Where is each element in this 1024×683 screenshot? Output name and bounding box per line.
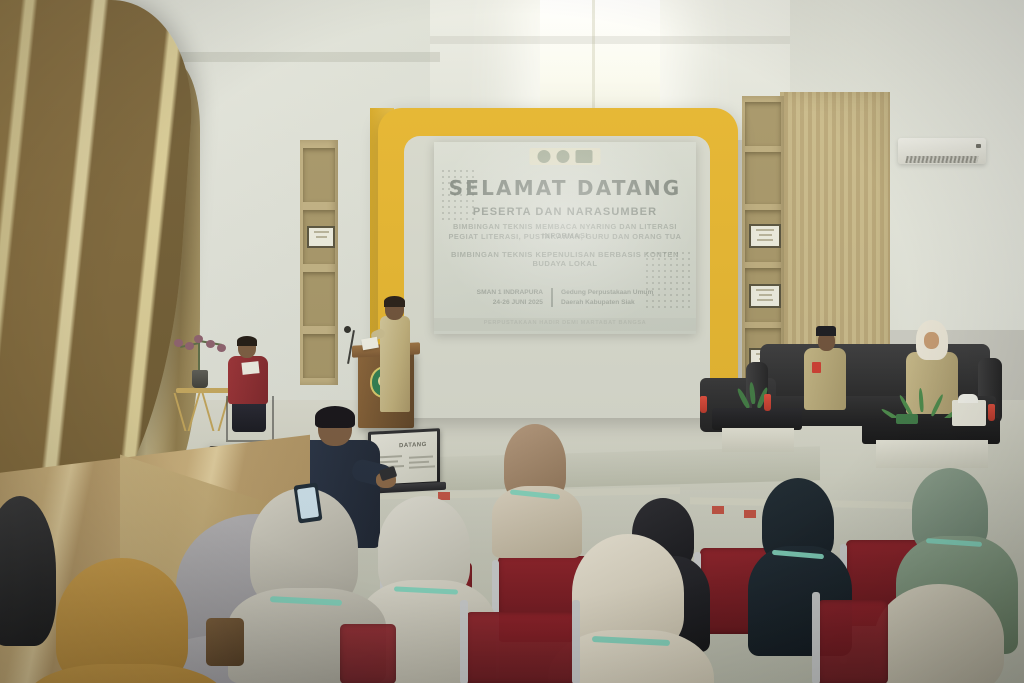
coffee-table-right-base xyxy=(876,440,988,468)
floor-tape-marker xyxy=(744,510,756,518)
air-conditioner-vent xyxy=(905,156,978,163)
speaker-person-body xyxy=(380,316,410,412)
water-bottle xyxy=(988,404,995,421)
floor-tape-marker xyxy=(712,506,724,514)
vip-left-badge xyxy=(812,362,821,373)
water-bottle xyxy=(700,396,707,413)
orchid-pot xyxy=(192,370,208,388)
handbag xyxy=(206,618,244,666)
chair[interactable] xyxy=(340,624,396,683)
coffee-table-left-base xyxy=(722,428,794,452)
projector-light-wash xyxy=(434,142,696,334)
water-bottle xyxy=(764,394,771,411)
vip-left-body xyxy=(804,348,846,410)
vip-right-face xyxy=(924,332,939,349)
shelf-cell xyxy=(745,102,781,146)
shelf-cell xyxy=(745,152,781,204)
chair-frame xyxy=(460,600,468,683)
coffee-table-left xyxy=(712,408,802,430)
left-man-hair xyxy=(237,336,257,346)
peci-cap-icon xyxy=(816,326,836,336)
operator-hair xyxy=(315,406,355,428)
tissue-sheet xyxy=(958,394,978,403)
shelf-cell xyxy=(745,210,781,262)
chair-frame xyxy=(812,592,820,683)
shelf-cell xyxy=(303,334,335,378)
ceiling-soffit-center xyxy=(430,36,790,44)
laptop-slide-label: DATANG xyxy=(399,442,427,449)
framed-certificate xyxy=(307,226,335,248)
left-shelf-column xyxy=(300,140,338,385)
microphone-icon xyxy=(344,326,351,333)
chair-frame xyxy=(572,600,580,683)
tissue-box xyxy=(952,400,986,426)
shelf-cell xyxy=(303,272,335,326)
shelf-cell xyxy=(303,148,335,202)
gold-side-table xyxy=(176,388,230,430)
air-conditioner-led xyxy=(976,144,981,148)
framed-certificate xyxy=(749,224,781,248)
orchid-plant xyxy=(170,330,232,374)
chair[interactable] xyxy=(818,600,888,683)
table-green-item xyxy=(896,414,918,424)
speaker-person-hair xyxy=(384,296,405,307)
left-man-paper xyxy=(241,361,259,375)
chair[interactable] xyxy=(466,612,576,683)
shelf-cell xyxy=(303,210,335,264)
shelf-cell xyxy=(745,268,781,322)
window-mullion xyxy=(592,0,595,118)
projection-screen: SELAMAT DATANG PESERTA DAN NARASUMBER BI… xyxy=(434,142,696,334)
photo-scene: SELAMAT DATANG PESERTA DAN NARASUMBER BI… xyxy=(0,0,1024,683)
framed-certificate xyxy=(749,284,781,308)
window-light xyxy=(540,0,660,120)
